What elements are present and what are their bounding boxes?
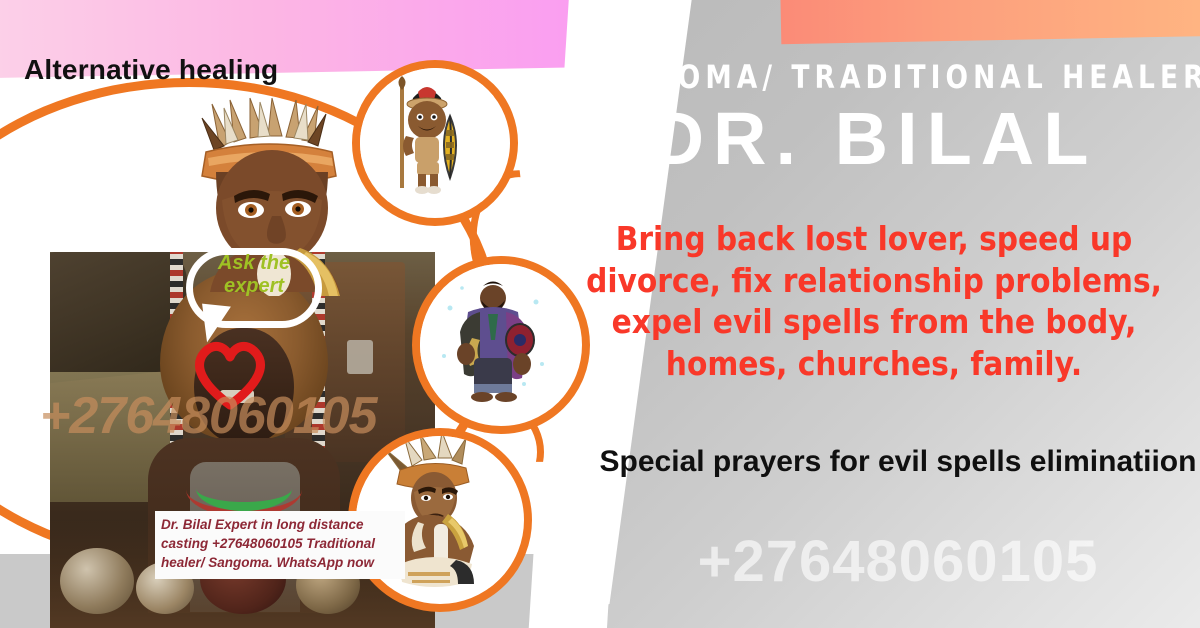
- caption-line-2: casting +27648060105 Traditional: [161, 534, 399, 553]
- phone-watermark: +27648060105: [588, 528, 1200, 595]
- page-title: DR. BILAL: [548, 102, 1200, 176]
- offer-text: Special prayers for evil spells eliminat…: [598, 442, 1198, 481]
- caption-line-1: Dr. Bilal Expert in long distance: [161, 515, 399, 534]
- poster-canvas: Alternative healing: [0, 0, 1200, 628]
- photo-door-lock: [347, 340, 373, 374]
- right-text-column: SANGOMA/ TRADITIONAL HEALER DR. BILAL Br…: [548, 0, 1200, 628]
- services-text: Bring back lost lover, speed up divorce,…: [554, 218, 1194, 384]
- photo-phone-overlay: +27648060105: [40, 386, 460, 446]
- caption-line-3: healer/ Sangoma. WhatsApp now: [161, 553, 399, 572]
- speech-bubble-label: Ask the expert: [196, 252, 312, 298]
- photo-caption: Dr. Bilal Expert in long distance castin…: [155, 511, 405, 579]
- alternative-healing-heading: Alternative healing: [24, 54, 278, 86]
- kicker-title: SANGOMA/ TRADITIONAL HEALER: [574, 58, 1174, 96]
- zulu-warrior-icon: [352, 60, 518, 226]
